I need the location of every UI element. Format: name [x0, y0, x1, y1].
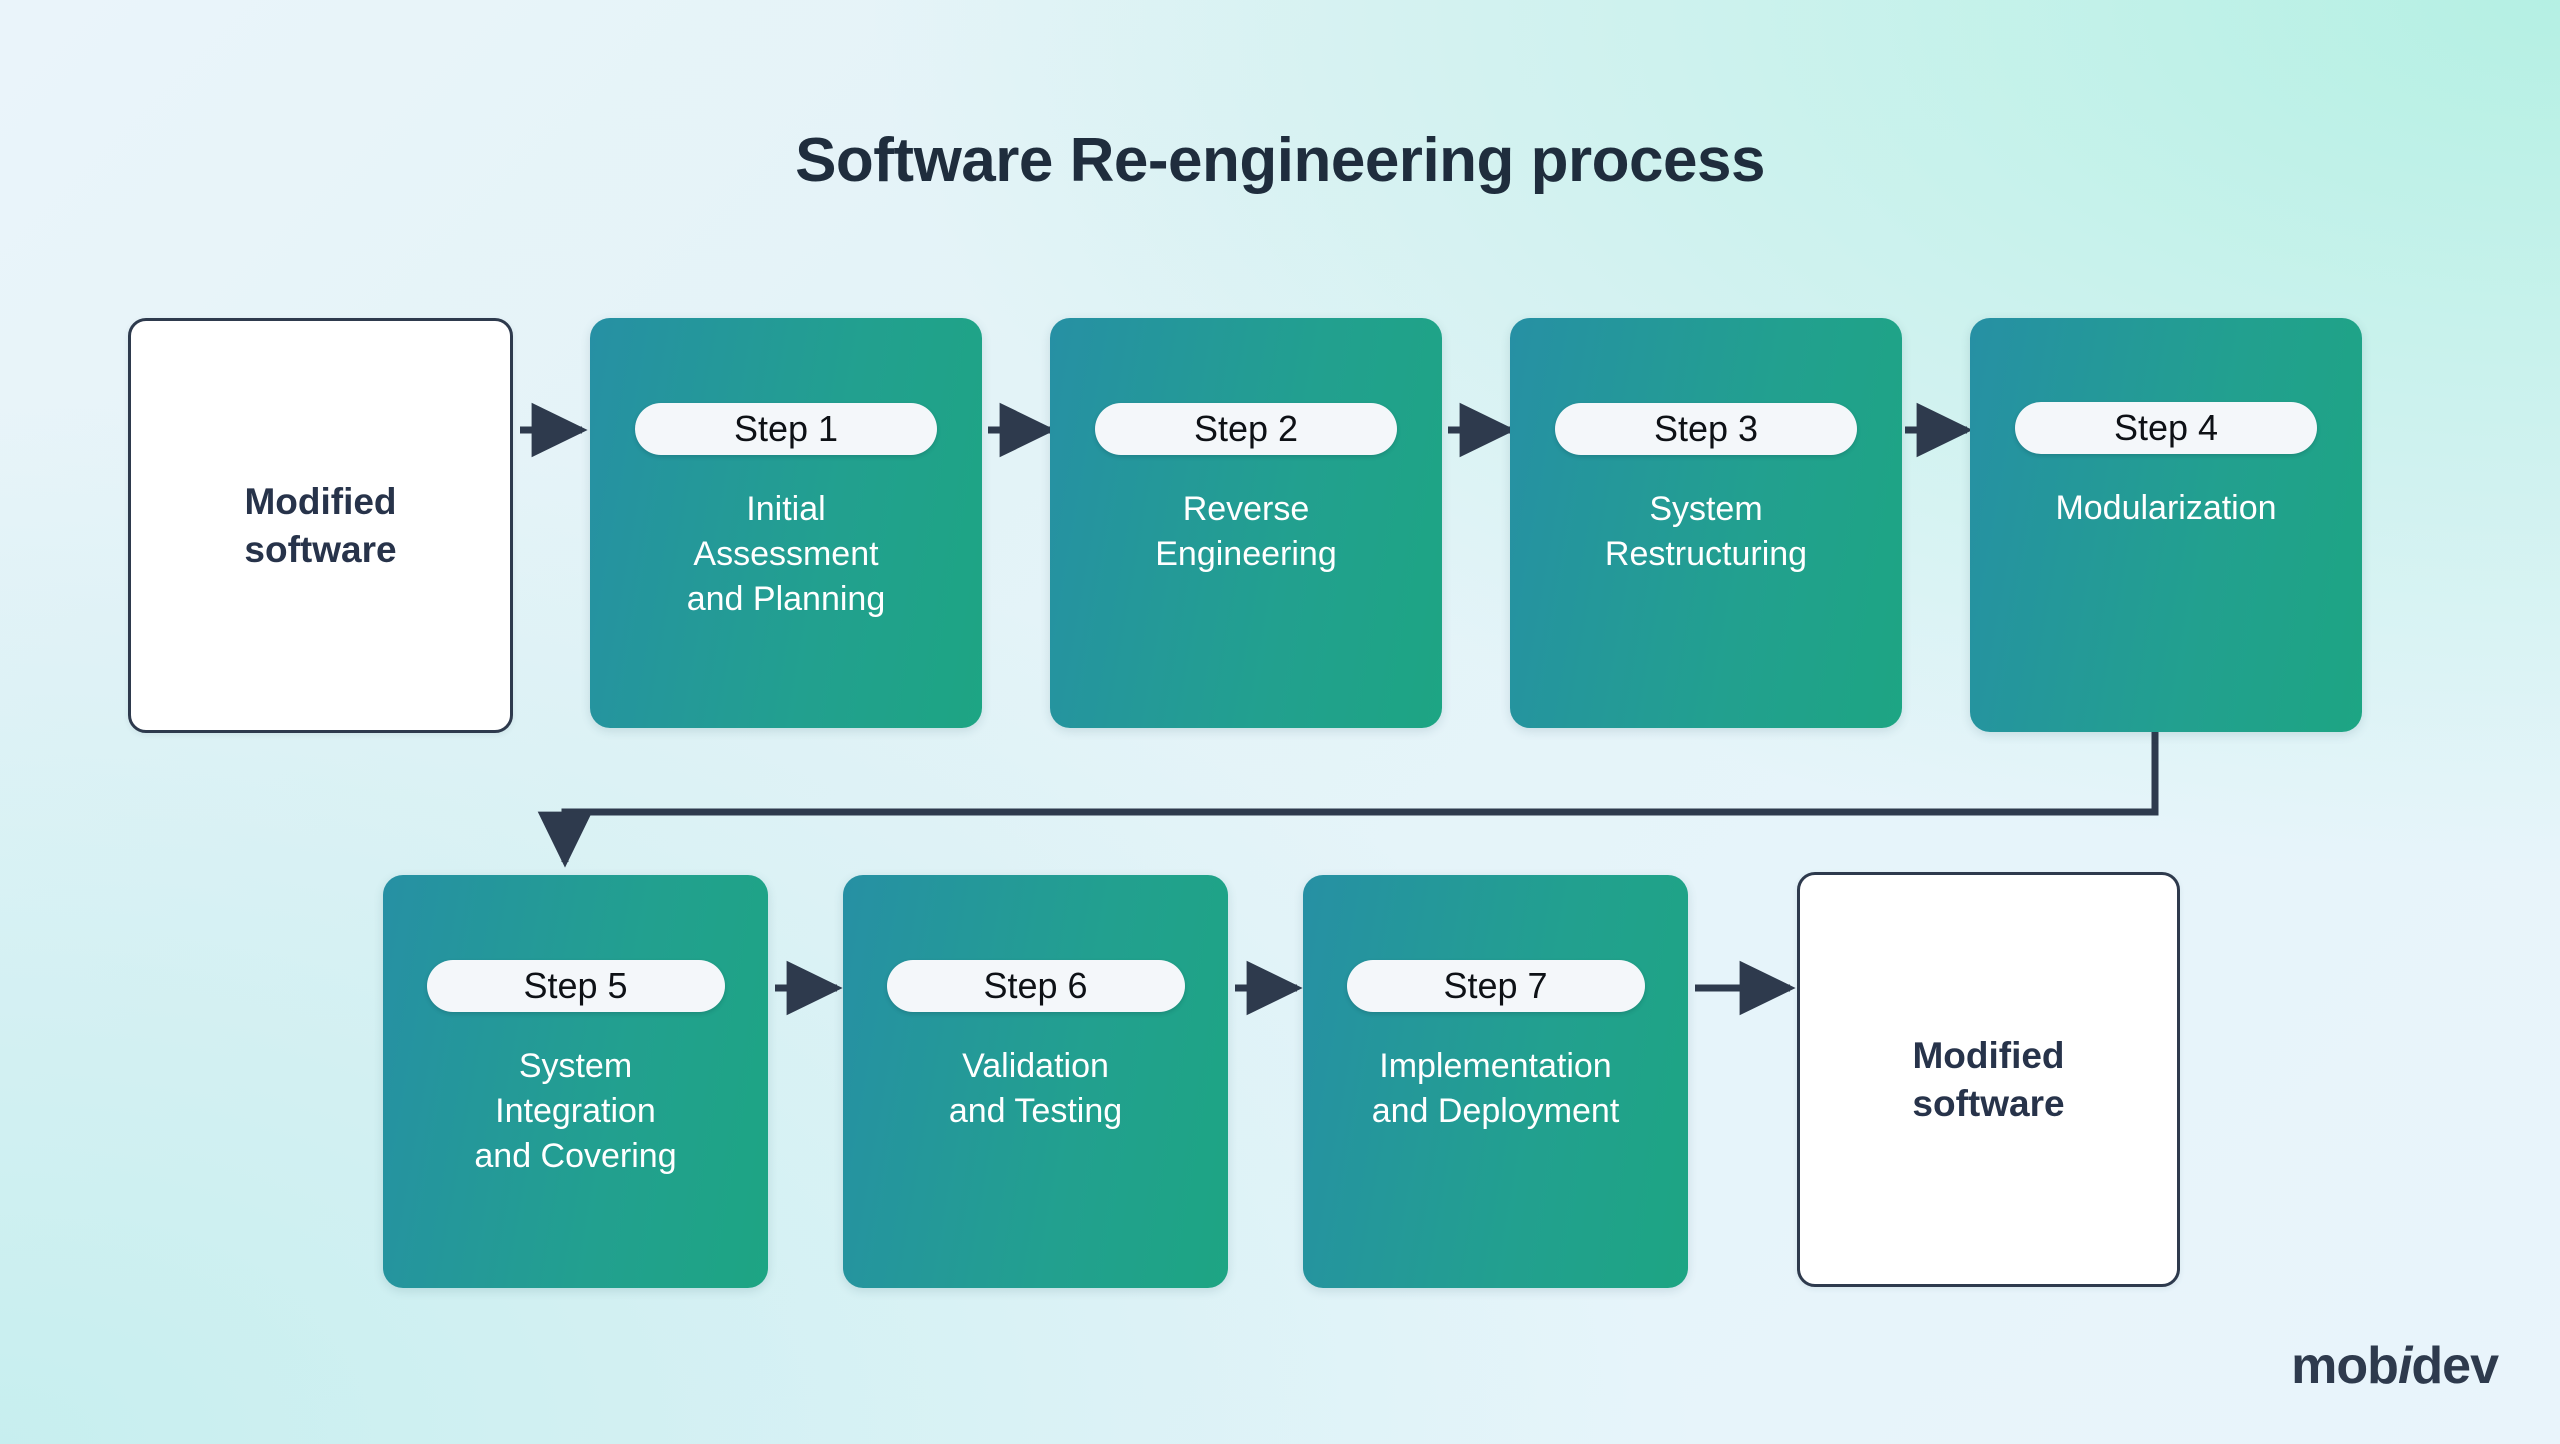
step-badge-5: Step 5	[427, 960, 725, 1012]
mobidev-logo: mobidev	[2291, 1336, 2498, 1396]
logo-suffix: dev	[2411, 1337, 2498, 1395]
terminal-end-label: Modified software	[1912, 1032, 2064, 1127]
step-body-3: System Restructuring	[1605, 487, 1807, 577]
step-badge-7: Step 7	[1347, 960, 1645, 1012]
step-body-4: Modularization	[2055, 486, 2276, 531]
page-title: Software Re-engineering process	[0, 125, 2560, 196]
step-card-6[interactable]: Step 6 Validation and Testing	[843, 875, 1228, 1288]
terminal-start-label: Modified software	[244, 478, 396, 573]
step-body-7: Implementation and Deployment	[1372, 1044, 1620, 1134]
logo-italic-i: i	[2398, 1337, 2411, 1395]
step-card-2[interactable]: Step 2 Reverse Engineering	[1050, 318, 1442, 728]
step-badge-4: Step 4	[2015, 402, 2317, 454]
step-card-1[interactable]: Step 1 Initial Assessment and Planning	[590, 318, 982, 728]
step-badge-2: Step 2	[1095, 403, 1397, 455]
step-body-5: System Integration and Covering	[474, 1044, 676, 1180]
step-badge-1: Step 1	[635, 403, 937, 455]
terminal-end: Modified software	[1797, 872, 2180, 1287]
step-badge-3: Step 3	[1555, 403, 1857, 455]
step-card-7[interactable]: Step 7 Implementation and Deployment	[1303, 875, 1688, 1288]
arrow-step4-to-step5	[565, 732, 2155, 862]
step-body-2: Reverse Engineering	[1155, 487, 1336, 577]
logo-prefix: mob	[2291, 1337, 2398, 1395]
step-card-5[interactable]: Step 5 System Integration and Covering	[383, 875, 768, 1288]
terminal-start: Modified software	[128, 318, 513, 733]
step-card-4[interactable]: Step 4 Modularization	[1970, 318, 2362, 732]
step-card-3[interactable]: Step 3 System Restructuring	[1510, 318, 1902, 728]
step-body-1: Initial Assessment and Planning	[687, 487, 886, 623]
step-body-6: Validation and Testing	[949, 1044, 1122, 1134]
step-badge-6: Step 6	[887, 960, 1185, 1012]
diagram-canvas: Software Re-engineering process Modified…	[0, 0, 2560, 1444]
